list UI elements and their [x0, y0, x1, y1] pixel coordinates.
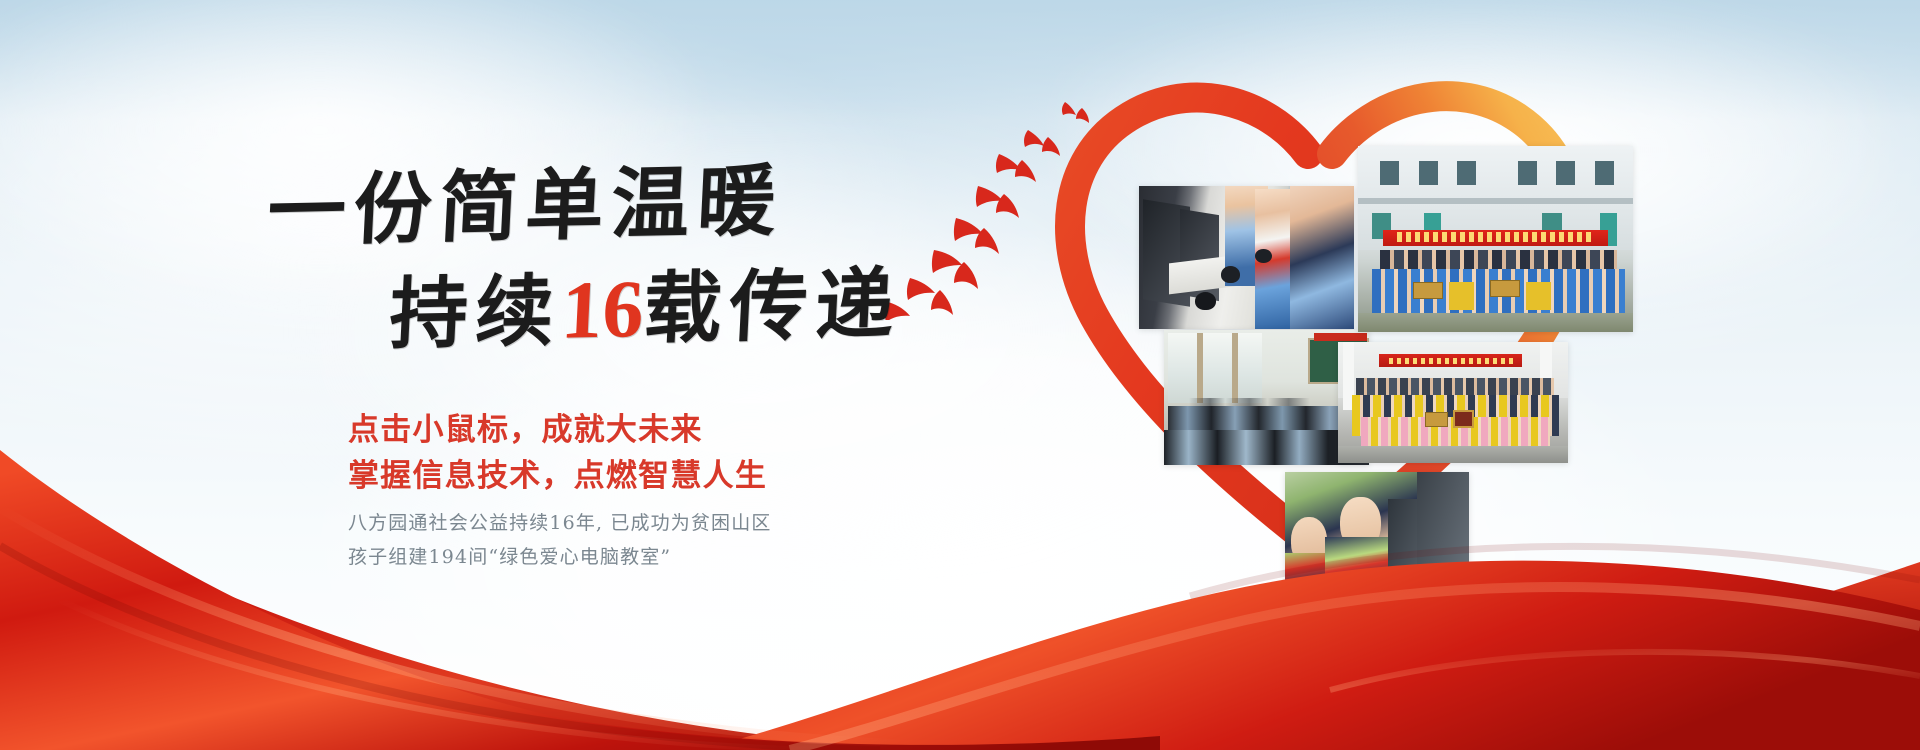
window-shape: [1380, 161, 1399, 185]
window-frame-shape: [1197, 333, 1203, 403]
student-shape: [1290, 186, 1355, 329]
window-frame-shape: [1232, 333, 1238, 403]
mouse-shape: [1221, 266, 1240, 283]
photo-lab1-image: [1139, 186, 1354, 329]
ceremony-banner-text-shape: [1397, 232, 1595, 241]
balcony-rail-shape: [1358, 198, 1633, 204]
mouse-shape: [1195, 292, 1217, 311]
playground-shape: [1358, 313, 1633, 332]
window-shape: [1457, 161, 1476, 185]
window-shape: [1518, 161, 1537, 185]
headline-line-2-prefix: 持续: [387, 266, 563, 361]
plaque-shape: [1425, 412, 1448, 427]
headline-line-1: 一份简单温暖: [266, 163, 785, 252]
plaque-shape: [1413, 282, 1443, 299]
subtitle-line-1: 点击小鼠标，成就大未来: [348, 404, 703, 449]
photo-donation-ceremony-indoor: [1338, 342, 1568, 463]
red-silk-ribbon-decoration: [0, 450, 1920, 750]
photo-group1-image: [1358, 146, 1633, 332]
plaque-shape: [1453, 410, 1474, 428]
red-banner-shape: [1314, 333, 1367, 341]
photo-group2-image: [1338, 342, 1568, 463]
headline-years-number: 16: [559, 263, 646, 356]
window-shape: [1595, 161, 1614, 185]
monitor-row-shape: [1168, 406, 1365, 433]
photo-computer-lab-students: [1139, 186, 1354, 329]
ceremony-banner-text-shape: [1389, 358, 1513, 364]
photo-donation-ceremony-outdoor: [1358, 146, 1633, 332]
headline-line-2-suffix: 载传递: [641, 259, 903, 355]
plaque-shape: [1490, 280, 1520, 297]
pennant-shape: [1449, 282, 1474, 310]
window-shape: [1168, 333, 1262, 403]
window-shape: [1419, 161, 1438, 185]
window-shape: [1556, 161, 1575, 185]
pennant-shape: [1526, 282, 1551, 310]
headline-line-2: 持续16载传递: [388, 263, 904, 356]
charity-banner: 一份简单温暖 持续16载传递 点击小鼠标，成就大未来 掌握信息技术，点燃智慧人生…: [0, 0, 1920, 750]
